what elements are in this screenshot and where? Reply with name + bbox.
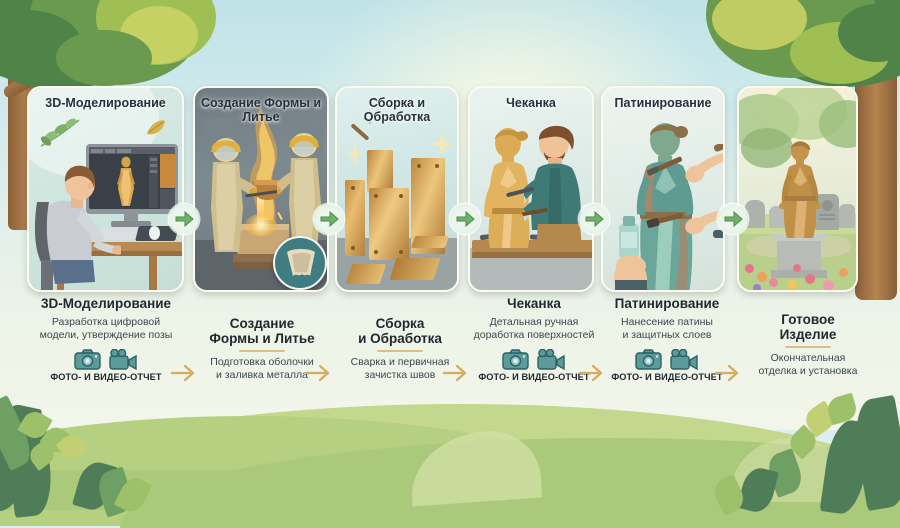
step-card-patination[interactable]: Патинирование — [601, 86, 725, 292]
chevron-right-icon — [714, 364, 740, 382]
connector-arrow-1 — [169, 204, 199, 234]
video-camera-icon — [670, 349, 699, 370]
flow-arrow-4 — [578, 364, 604, 387]
caption-divider — [377, 350, 423, 352]
flow-arrow-2 — [305, 364, 331, 387]
step-card-chasing[interactable]: Чеканка — [468, 86, 594, 292]
chevron-right-icon — [442, 364, 468, 382]
flow-arrow-5 — [714, 364, 740, 387]
caption-heading-chasing: Чеканка — [460, 296, 608, 311]
caption-divider — [239, 350, 285, 352]
chevron-right-icon — [305, 364, 331, 382]
caption-finished: Готовое Изделие Окончательная отделка и … — [730, 312, 886, 378]
caption-desc-patination: Нанесение патины и защитных слоев — [593, 316, 741, 342]
card-illustration-chasing — [470, 88, 592, 290]
photo-camera-icon — [635, 349, 662, 370]
flow-arrow-3 — [442, 364, 468, 387]
chevron-right-icon — [170, 364, 196, 382]
card-illustration-patination — [603, 88, 723, 290]
video-camera-icon — [537, 349, 566, 370]
caption-heading-finished: Готовое Изделие — [730, 312, 886, 342]
caption-heading-modeling: 3D-Моделирование — [8, 296, 204, 311]
arrow-right-icon — [456, 211, 475, 227]
step-card-modeling[interactable]: 3D-Моделирование — [27, 86, 184, 292]
arrow-right-icon — [175, 211, 194, 227]
chevron-right-icon — [578, 364, 604, 382]
connector-arrow-5 — [718, 204, 748, 234]
caption-desc-chasing: Детальная ручная доработка поверхностей — [460, 316, 608, 342]
connector-arrow-4 — [579, 204, 609, 234]
caption-heading-assembly: Сборка и Обработка — [326, 316, 474, 346]
photo-camera-icon — [502, 349, 529, 370]
arrow-right-icon — [724, 211, 743, 227]
step-card-finished[interactable] — [737, 86, 858, 292]
connector-arrow-2 — [314, 204, 344, 234]
flow-arrow-1 — [170, 364, 196, 387]
arrow-right-icon — [585, 211, 604, 227]
card-title-patination: Патинирование — [603, 96, 723, 110]
card-title-assembly: Сборка и Обработка — [337, 96, 457, 124]
card-title-chasing: Чеканка — [470, 96, 592, 110]
card-illustration-finished — [739, 88, 856, 290]
card-title-mold-casting: Создание Формы и Литье — [195, 96, 327, 124]
caption-heading-patination: Патинирование — [593, 296, 741, 311]
caption-desc-finished: Окончательная отделка и установка — [730, 352, 886, 378]
connector-arrow-3 — [450, 204, 480, 234]
step-card-mold-casting[interactable]: Создание Формы и Литье — [193, 86, 329, 292]
caption-desc-modeling: Разработка цифровой модели, утверждение … — [8, 316, 204, 342]
step-card-assembly[interactable]: Сборка и Обработка — [335, 86, 459, 292]
card-illustration-modeling — [29, 88, 182, 290]
caption-divider — [785, 346, 831, 348]
photo-camera-icon — [74, 349, 101, 370]
card-title-modeling: 3D-Моделирование — [29, 96, 182, 110]
caption-heading-mold-casting: Создание Формы и Литье — [182, 316, 342, 346]
video-camera-icon — [109, 349, 138, 370]
arrow-right-icon — [320, 211, 339, 227]
